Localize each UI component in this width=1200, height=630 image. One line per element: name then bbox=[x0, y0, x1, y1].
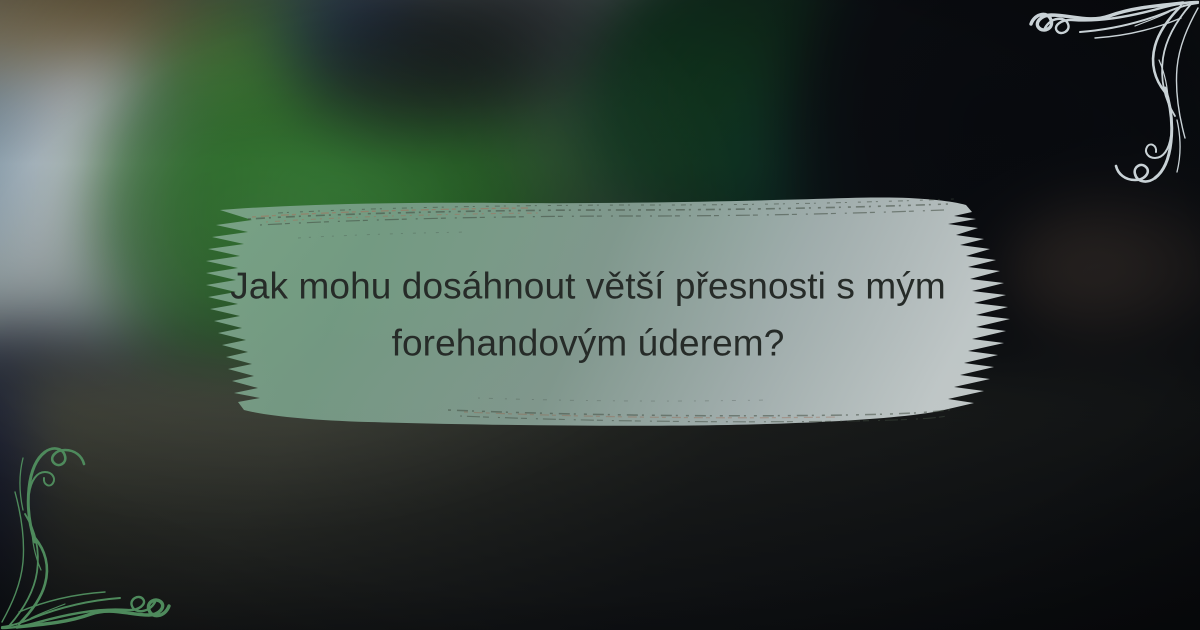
headline-line-1: Jak mohu dosáhnout větší přesnosti s mým bbox=[230, 266, 946, 307]
headline-text: Jak mohu dosáhnout větší přesnosti s mým… bbox=[208, 258, 968, 373]
headline-banner: Jak mohu dosáhnout větší přesnosti s mým… bbox=[148, 186, 1028, 444]
social-quote-card: Jak mohu dosáhnout větší přesnosti s mým… bbox=[0, 0, 1200, 630]
headline-line-2: forehandovým úderem? bbox=[392, 323, 785, 364]
